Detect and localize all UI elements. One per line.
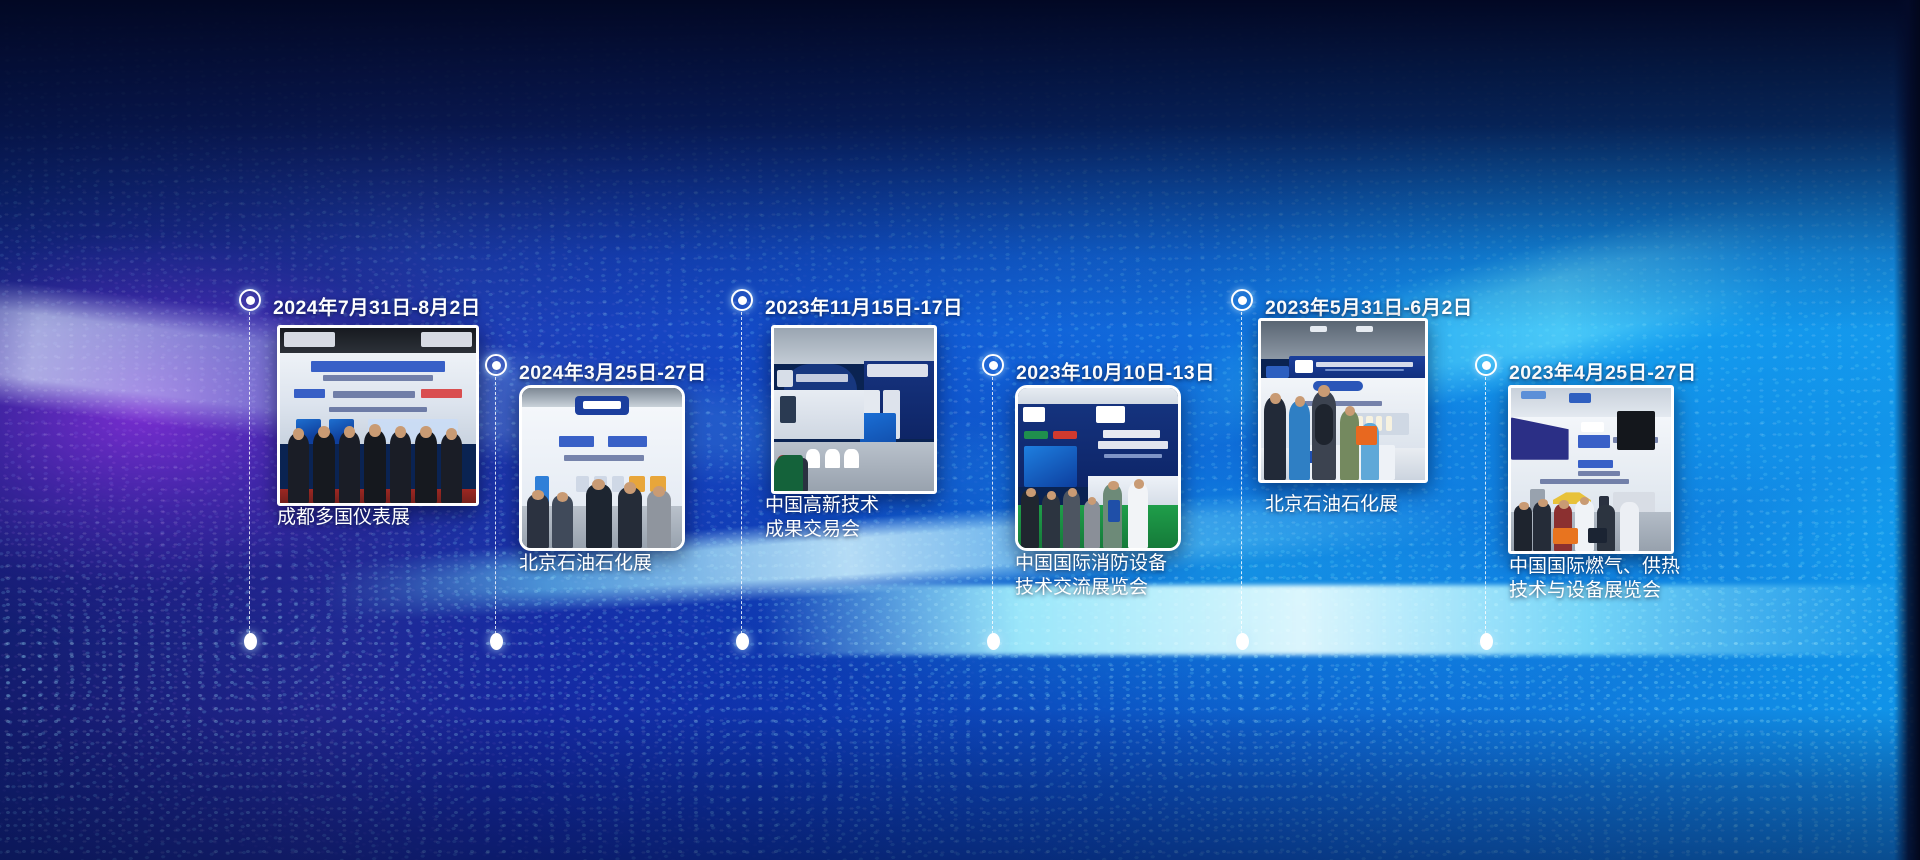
circle-dot-icon xyxy=(731,289,753,311)
timeline-date-2: 2024年3月25日-27日 xyxy=(519,356,707,385)
timeline-enddot-1 xyxy=(244,633,257,650)
timeline-stem-1 xyxy=(249,312,250,639)
timeline-stage: 2024年7月31日-8月2日 xyxy=(0,0,1920,860)
timeline-enddot-2 xyxy=(490,633,503,650)
timeline-photo-1[interactable] xyxy=(277,325,479,506)
timeline-date-4: 2023年10月10日-13日 xyxy=(1016,356,1215,385)
timeline-stem-4 xyxy=(992,377,993,639)
circle-dot-icon xyxy=(485,354,507,376)
timeline-caption-2: 北京石油石化展 xyxy=(519,552,749,576)
circle-dot-icon xyxy=(982,354,1004,376)
timeline-enddot-5 xyxy=(1236,633,1249,650)
timeline-caption-1: 成都多国仪表展 xyxy=(277,506,497,530)
timeline-stem-5 xyxy=(1241,312,1242,639)
timeline-caption-3: 中国高新技术 成果交易会 xyxy=(765,494,995,543)
timeline-date-5: 2023年5月31日-6月2日 xyxy=(1265,291,1473,320)
timeline-photo-5[interactable] xyxy=(1258,318,1428,483)
timeline-enddot-3 xyxy=(736,633,749,650)
timeline-caption-6: 中国国际燃气、供热 技术与设备展览会 xyxy=(1509,555,1769,604)
timeline-photo-4[interactable] xyxy=(1015,385,1181,551)
circle-dot-icon xyxy=(1231,289,1253,311)
timeline-caption-4: 中国国际消防设备 技术交流展览会 xyxy=(1015,552,1265,601)
timeline: 2024年7月31日-8月2日 xyxy=(0,0,1920,860)
timeline-enddot-6 xyxy=(1480,633,1493,650)
timeline-enddot-4 xyxy=(987,633,1000,650)
timeline-caption-5: 北京石油石化展 xyxy=(1265,493,1505,517)
timeline-date-6: 2023年4月25日-27日 xyxy=(1509,356,1697,385)
timeline-photo-2[interactable] xyxy=(519,385,685,551)
circle-dot-icon xyxy=(1475,354,1497,376)
timeline-stem-2 xyxy=(495,377,496,639)
timeline-stem-6 xyxy=(1485,377,1486,639)
timeline-stem-3 xyxy=(741,312,742,639)
timeline-date-1: 2024年7月31日-8月2日 xyxy=(273,291,481,320)
timeline-date-3: 2023年11月15日-17日 xyxy=(765,291,963,320)
circle-dot-icon xyxy=(239,289,261,311)
timeline-photo-6[interactable] xyxy=(1508,385,1674,554)
timeline-photo-3[interactable] xyxy=(771,325,937,494)
